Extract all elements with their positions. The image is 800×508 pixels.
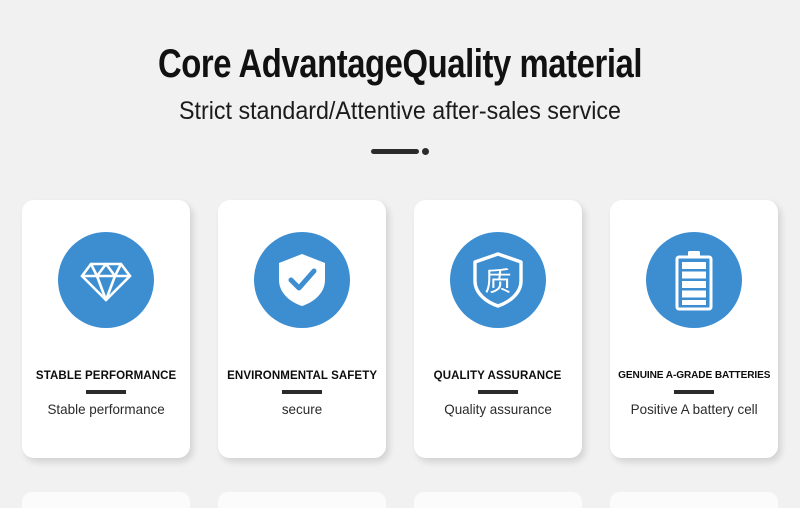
card-subtitle: Positive A battery cell	[630, 401, 757, 418]
divider-bar	[371, 149, 419, 154]
shield-check-icon	[276, 252, 328, 308]
card-title: QUALITY ASSURANCE	[434, 368, 562, 382]
card-rule	[282, 390, 322, 394]
svg-text:质: 质	[485, 267, 512, 298]
card-title: GENUINE A-GRADE BATTERIES	[618, 368, 770, 382]
card-subtitle: secure	[282, 401, 322, 418]
diamond-icon	[79, 255, 133, 305]
feature-card-list: STABLE PERFORMANCE Stable performance EN…	[0, 200, 800, 458]
icon-circle	[254, 232, 350, 328]
icon-circle: 质	[450, 232, 546, 328]
card-text: STABLE PERFORMANCE Stable performance	[22, 368, 190, 458]
page-header: Core AdvantageQuality material Strict st…	[0, 0, 800, 156]
peek-card	[414, 492, 582, 508]
card-subtitle: Quality assurance	[444, 401, 552, 418]
peek-card	[218, 492, 386, 508]
card-text: ENVIRONMENTAL SAFETY secure	[218, 368, 386, 458]
card-rule	[86, 390, 126, 394]
page-subtitle: Strict standard/Attentive after-sales se…	[28, 96, 772, 126]
card-title: STABLE PERFORMANCE	[36, 368, 176, 382]
next-row-peek	[0, 492, 800, 508]
peek-card	[22, 492, 190, 508]
peek-card	[610, 492, 778, 508]
feature-card-stable-performance[interactable]: STABLE PERFORMANCE Stable performance	[22, 200, 190, 458]
feature-card-environmental-safety[interactable]: ENVIRONMENTAL SAFETY secure	[218, 200, 386, 458]
shield-quality-icon: 质	[471, 251, 525, 309]
page-title: Core AdvantageQuality material	[72, 42, 728, 86]
section-divider	[0, 146, 800, 156]
card-rule	[674, 390, 714, 394]
card-subtitle: Stable performance	[47, 401, 164, 418]
icon-circle	[646, 232, 742, 328]
card-text: QUALITY ASSURANCE Quality assurance	[414, 368, 582, 458]
card-rule	[478, 390, 518, 394]
divider-dot	[422, 148, 429, 155]
card-title: ENVIRONMENTAL SAFETY	[227, 368, 377, 382]
card-text: GENUINE A-GRADE BATTERIES Positive A bat…	[610, 368, 778, 458]
feature-card-genuine-batteries[interactable]: GENUINE A-GRADE BATTERIES Positive A bat…	[610, 200, 778, 458]
feature-card-quality-assurance[interactable]: 质 QUALITY ASSURANCE Quality assurance	[414, 200, 582, 458]
battery-icon	[672, 249, 716, 311]
icon-circle	[58, 232, 154, 328]
